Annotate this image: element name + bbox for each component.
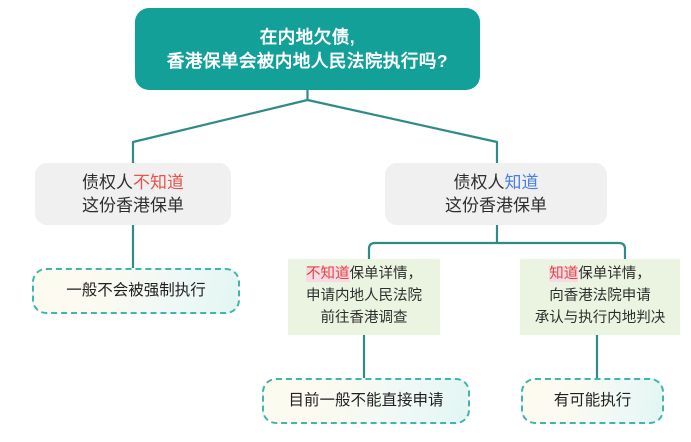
action-left-line1: 不知道保单详情， [306, 264, 422, 286]
outcome-mid-text: 目前一般不能直接申请 [288, 390, 443, 411]
branch-right-accent: 知道 [505, 173, 539, 192]
branch-left-line2: 这份香港保单 [82, 194, 184, 217]
connector-right-branch-split-bar [369, 243, 625, 259]
action-right-line2: 向香港法院申请 [535, 286, 666, 308]
branch-node-creditor-unaware: 债权人不知道 这份香港保单 [35, 163, 231, 225]
flowchart-diagram: 在内地欠债, 香港保单会被内地人民法院执行吗? 债权人不知道 这份香港保单 债权… [0, 0, 691, 442]
branch-left-line1: 债权人不知道 [82, 171, 184, 194]
branch-left-accent: 不知道 [133, 173, 184, 192]
outcome-node-cannot-apply: 目前一般不能直接申请 [262, 378, 470, 424]
outcome-node-possible-enforcement: 有可能执行 [521, 378, 664, 424]
branch-right-line1: 债权人知道 [445, 171, 547, 194]
action-left-line2: 申请内地人民法院 [306, 286, 422, 308]
outcome-right-text: 有可能执行 [554, 390, 632, 411]
outcome-node-no-enforcement: 一般不会被强制执行 [32, 268, 240, 314]
action-right-line1-rest: 保单详情， [578, 266, 651, 282]
connector-root-to-left-branch [133, 100, 308, 163]
branch-left-lead: 债权人 [82, 173, 133, 192]
action-node-aware-details: 知道保单详情， 向香港法院申请 承认与执行内地判决 [520, 259, 680, 335]
action-right-line1: 知道保单详情， [535, 264, 666, 286]
action-left-line1-rest: 保单详情， [350, 266, 423, 282]
root-question-line1: 在内地欠债, [167, 25, 448, 49]
outcome-left-text: 一般不会被强制执行 [66, 280, 206, 301]
branch-right-line2: 这份香港保单 [445, 194, 547, 217]
root-question-node: 在内地欠债, 香港保单会被内地人民法院执行吗? [135, 8, 480, 90]
action-left-accent: 不知道 [306, 266, 350, 282]
connector-root-to-right-branch [308, 100, 498, 163]
action-left-line3: 前往香港调查 [306, 308, 422, 330]
action-right-accent: 知道 [549, 266, 578, 282]
root-question-line2: 香港保单会被内地人民法院执行吗? [167, 49, 448, 73]
branch-right-lead: 债权人 [454, 173, 505, 192]
action-node-unaware-details: 不知道保单详情， 申请内地人民法院 前往香港调查 [288, 259, 440, 335]
branch-node-creditor-aware: 债权人知道 这份香港保单 [385, 163, 607, 225]
action-right-line3: 承认与执行内地判决 [535, 308, 666, 330]
